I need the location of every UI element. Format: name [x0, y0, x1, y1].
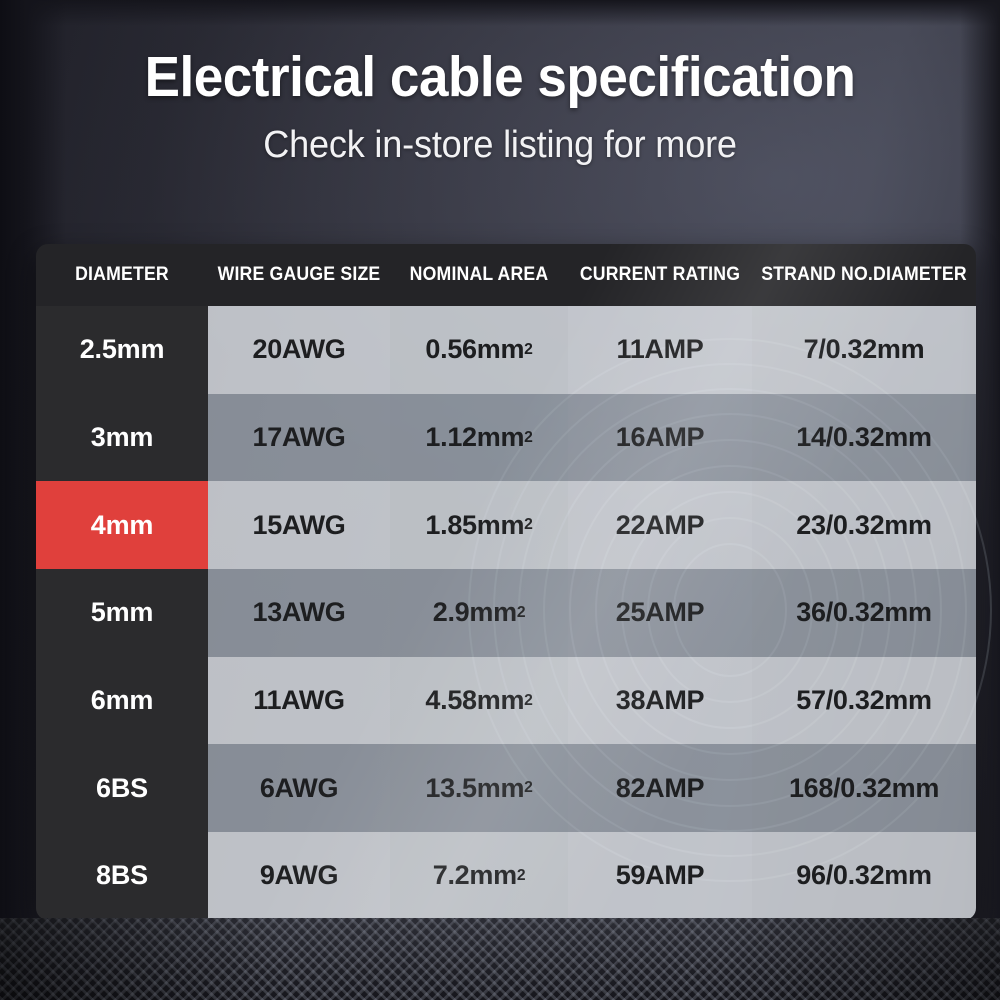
cell-nominal-area: 1.12mm2 [390, 394, 568, 482]
cell-diameter: 6mm [36, 657, 208, 745]
cell-nominal-area: 0.56mm2 [390, 306, 568, 394]
cell-strand-no-diameter: 36/0.32mm [752, 569, 976, 657]
cell-nominal-area: 7.2mm2 [390, 832, 568, 920]
top-edge-vignette [0, 0, 1000, 26]
cell-nominal-area: 4.58mm2 [390, 657, 568, 745]
cell-strand-no-diameter: 168/0.32mm [752, 744, 976, 832]
cell-strand-no-diameter: 57/0.32mm [752, 657, 976, 745]
cell-diameter: 8BS [36, 832, 208, 920]
cell-nominal-area-value: 13.5mm [425, 773, 524, 804]
column-header-current-rating: CURRENT RATING [574, 244, 745, 306]
table-row[interactable]: 6mm11AWG4.58mm238AMP57/0.32mm [36, 657, 976, 745]
cell-wire-gauge-size: 11AWG [208, 657, 390, 745]
cell-strand-no-diameter: 14/0.32mm [752, 394, 976, 482]
cell-diameter: 5mm [36, 569, 208, 657]
banner-heading-block: Electrical cable specification Check in-… [0, 48, 1000, 167]
cell-wire-gauge-size: 15AWG [208, 481, 390, 569]
cell-nominal-area: 1.85mm2 [390, 481, 568, 569]
cell-nominal-area-value: 4.58mm [425, 685, 524, 716]
cell-strand-no-diameter: 23/0.32mm [752, 481, 976, 569]
cell-wire-gauge-size: 6AWG [208, 744, 390, 832]
cell-current-rating: 59AMP [568, 832, 752, 920]
table-row[interactable]: 4mm15AWG1.85mm222AMP23/0.32mm [36, 481, 976, 569]
cell-diameter: 3mm [36, 394, 208, 482]
product-spec-banner: Electrical cable specification Check in-… [0, 0, 1000, 1000]
cell-current-rating: 38AMP [568, 657, 752, 745]
cell-current-rating: 11AMP [568, 306, 752, 394]
spec-table: DIAMETER WIRE GAUGE SIZE NOMINAL AREA CU… [36, 244, 976, 920]
cell-nominal-area: 13.5mm2 [390, 744, 568, 832]
table-row[interactable]: 5mm13AWG2.9mm225AMP36/0.32mm [36, 569, 976, 657]
cell-current-rating: 82AMP [568, 744, 752, 832]
column-header-nominal-area: NOMINAL AREA [396, 244, 562, 306]
cell-nominal-area-value: 1.85mm [425, 510, 524, 541]
cell-diameter: 6BS [36, 744, 208, 832]
table-row[interactable]: 6BS6AWG13.5mm282AMP168/0.32mm [36, 744, 976, 832]
cell-nominal-area-value: 2.9mm [433, 597, 517, 628]
table-row[interactable]: 2.5mm20AWG0.56mm211AMP7/0.32mm [36, 306, 976, 394]
cell-wire-gauge-size: 13AWG [208, 569, 390, 657]
cell-nominal-area-value: 1.12mm [425, 422, 524, 453]
table-header-row: DIAMETER WIRE GAUGE SIZE NOMINAL AREA CU… [36, 244, 976, 306]
cell-strand-no-diameter: 7/0.32mm [752, 306, 976, 394]
column-header-diameter: DIAMETER [42, 244, 202, 306]
cell-wire-gauge-size: 9AWG [208, 832, 390, 920]
carbon-footer-shading [0, 918, 1000, 1000]
cell-current-rating: 22AMP [568, 481, 752, 569]
cell-current-rating: 25AMP [568, 569, 752, 657]
cell-nominal-area-value: 7.2mm [433, 860, 517, 891]
cell-diameter: 4mm [36, 481, 208, 569]
cell-strand-no-diameter: 96/0.32mm [752, 832, 976, 920]
cell-wire-gauge-size: 17AWG [208, 394, 390, 482]
page-subtitle: Check in-store listing for more [25, 124, 975, 167]
cell-wire-gauge-size: 20AWG [208, 306, 390, 394]
column-header-strand-no-diameter: STRAND NO.DIAMETER [760, 244, 968, 306]
cell-nominal-area: 2.9mm2 [390, 569, 568, 657]
table-row[interactable]: 3mm17AWG1.12mm216AMP14/0.32mm [36, 394, 976, 482]
cell-current-rating: 16AMP [568, 394, 752, 482]
page-title: Electrical cable specification [35, 48, 965, 108]
table-row[interactable]: 8BS9AWG7.2mm259AMP96/0.32mm [36, 832, 976, 920]
column-header-wire-gauge-size: WIRE GAUGE SIZE [214, 244, 383, 306]
cell-nominal-area-value: 0.56mm [425, 334, 524, 365]
cell-diameter: 2.5mm [36, 306, 208, 394]
